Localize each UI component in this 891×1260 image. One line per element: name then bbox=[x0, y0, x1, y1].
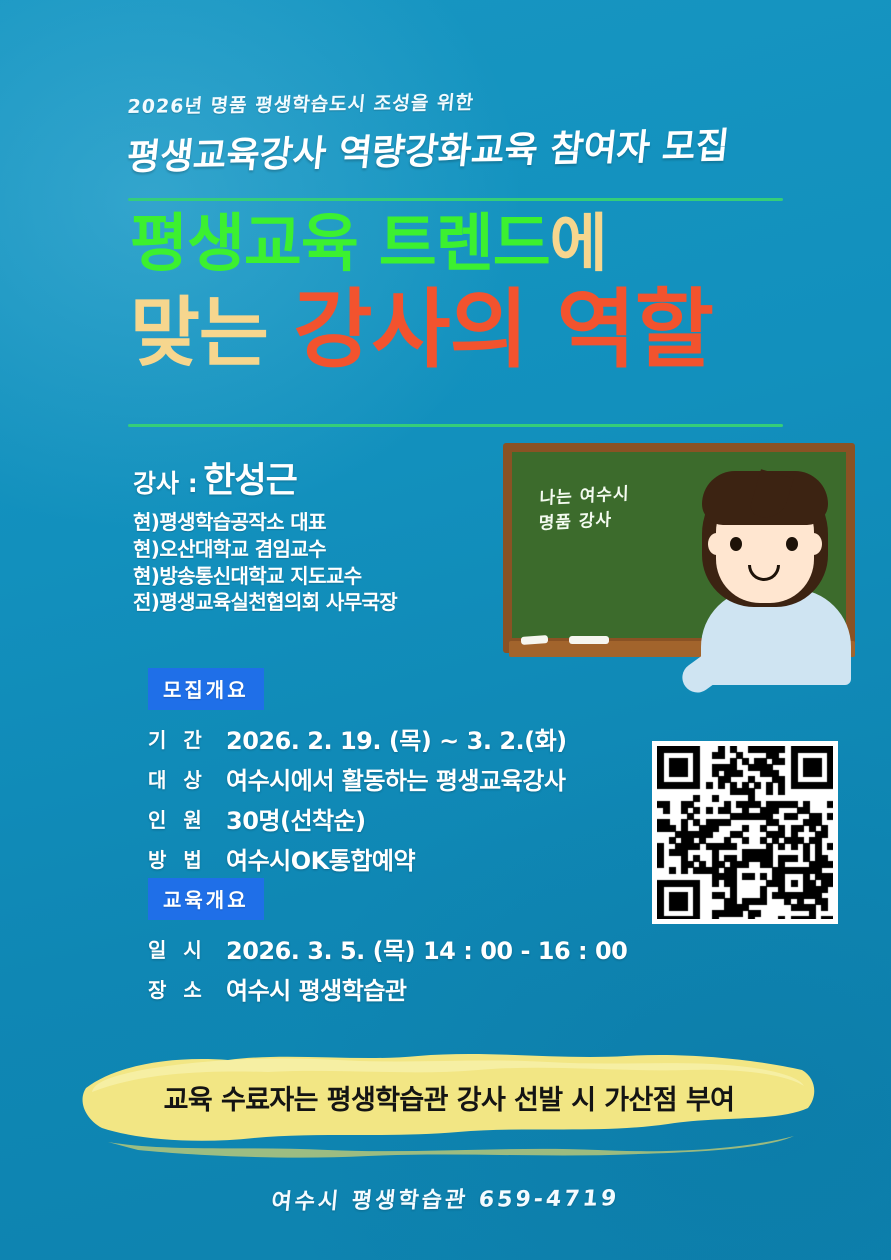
teacher-figure bbox=[668, 461, 858, 685]
title-line-2: 맞는 강사의 역할 bbox=[130, 287, 810, 373]
title-line-1: 평생교육 트렌드에 bbox=[130, 212, 810, 275]
chalk-icon bbox=[569, 636, 609, 644]
title-cream-text: 맞는 bbox=[130, 288, 268, 377]
recruit-info-table: 기 간 2026. 2. 19. (목) ~ 3. 2.(화) 대 상 여수시에… bbox=[148, 719, 567, 879]
header-headline: 평생교육강사 역량강화교육 참여자 모집 bbox=[125, 116, 792, 181]
row-value: 2026. 3. 5. (목) 14 : 00 - 16 : 00 bbox=[226, 929, 627, 969]
row-key: 기 간 bbox=[148, 719, 226, 759]
header-kicker: 2026년 명품 평생학습도시 조성을 위한 bbox=[126, 84, 789, 119]
poster-footer: 여수시 평생학습관 659-4719 bbox=[0, 1177, 891, 1218]
table-row: 방 법 여수시OK통합예약 bbox=[148, 839, 567, 879]
poster-header: 2026년 명품 평생학습도시 조성을 위한 평생교육강사 역량강화교육 참여자… bbox=[128, 88, 788, 174]
row-value: 여수시에서 활동하는 평생교육강사 bbox=[226, 759, 567, 799]
blackboard-illustration: 나는 여수시 명품 강사 bbox=[503, 443, 855, 685]
row-value: 여수시OK통합예약 bbox=[226, 839, 567, 879]
row-key: 일 시 bbox=[148, 929, 226, 969]
qr-code-icon[interactable] bbox=[657, 746, 833, 919]
instructor-credentials: 현)평생학습공작소 대표 현)오산대학교 겸임교수 현)방송통신대학교 지도교수… bbox=[133, 509, 493, 616]
row-key: 장 소 bbox=[148, 969, 226, 1009]
table-row: 일 시 2026. 3. 5. (목) 14 : 00 - 16 : 00 bbox=[148, 929, 627, 969]
row-key: 대 상 bbox=[148, 759, 226, 799]
credential-item: 현)방송통신대학교 지도교수 bbox=[133, 563, 493, 590]
credential-item: 현)오산대학교 겸임교수 bbox=[133, 536, 493, 563]
instructor-name: 한성근 bbox=[203, 461, 297, 501]
poster-title: 평생교육 트렌드에 맞는 강사의 역할 bbox=[130, 212, 810, 373]
recruit-section: 모집개요 기 간 2026. 2. 19. (목) ~ 3. 2.(화) 대 상… bbox=[148, 668, 567, 879]
table-row: 대 상 여수시에서 활동하는 평생교육강사 bbox=[148, 759, 567, 799]
table-row: 장 소 여수시 평생학습관 bbox=[148, 969, 627, 1009]
credential-item: 전)평생교육실천협의회 사무국장 bbox=[133, 589, 493, 616]
title-cream-suffix: 에 bbox=[550, 207, 607, 280]
title-red-text: 강사의 역할 bbox=[293, 280, 713, 380]
row-key: 방 법 bbox=[148, 839, 226, 879]
row-value: 2026. 2. 19. (목) ~ 3. 2.(화) bbox=[226, 719, 567, 759]
teacher-eye-right bbox=[786, 537, 798, 551]
instructor-heading: 강사 : 한성근 bbox=[133, 452, 493, 503]
teacher-eye-left bbox=[730, 537, 742, 551]
highlight-banner: 교육 수료자는 평생학습관 강사 선발 시 가산점 부여 bbox=[78, 1048, 820, 1160]
row-key: 인 원 bbox=[148, 799, 226, 839]
divider-top bbox=[128, 198, 783, 201]
divider-bottom bbox=[128, 424, 783, 427]
table-row: 인 원 30명(선착순) bbox=[148, 799, 567, 839]
course-badge: 교육개요 bbox=[148, 878, 264, 920]
row-value: 여수시 평생학습관 bbox=[226, 969, 627, 1009]
title-green-text: 평생교육 트렌드 bbox=[130, 207, 550, 280]
instructor-block: 강사 : 한성근 현)평생학습공작소 대표 현)오산대학교 겸임교수 현)방송통… bbox=[133, 452, 493, 616]
qr-code[interactable] bbox=[652, 741, 838, 924]
recruit-badge: 모집개요 bbox=[148, 668, 264, 710]
credential-item: 현)평생학습공작소 대표 bbox=[133, 509, 493, 536]
banner-text: 교육 수료자는 평생학습관 강사 선발 시 가산점 부여 bbox=[78, 1048, 820, 1160]
course-section: 교육개요 일 시 2026. 3. 5. (목) 14 : 00 - 16 : … bbox=[148, 878, 627, 1009]
table-row: 기 간 2026. 2. 19. (목) ~ 3. 2.(화) bbox=[148, 719, 567, 759]
course-info-table: 일 시 2026. 3. 5. (목) 14 : 00 - 16 : 00 장 … bbox=[148, 929, 627, 1009]
row-value: 30명(선착순) bbox=[226, 799, 567, 839]
instructor-label: 강사 : bbox=[133, 469, 198, 498]
